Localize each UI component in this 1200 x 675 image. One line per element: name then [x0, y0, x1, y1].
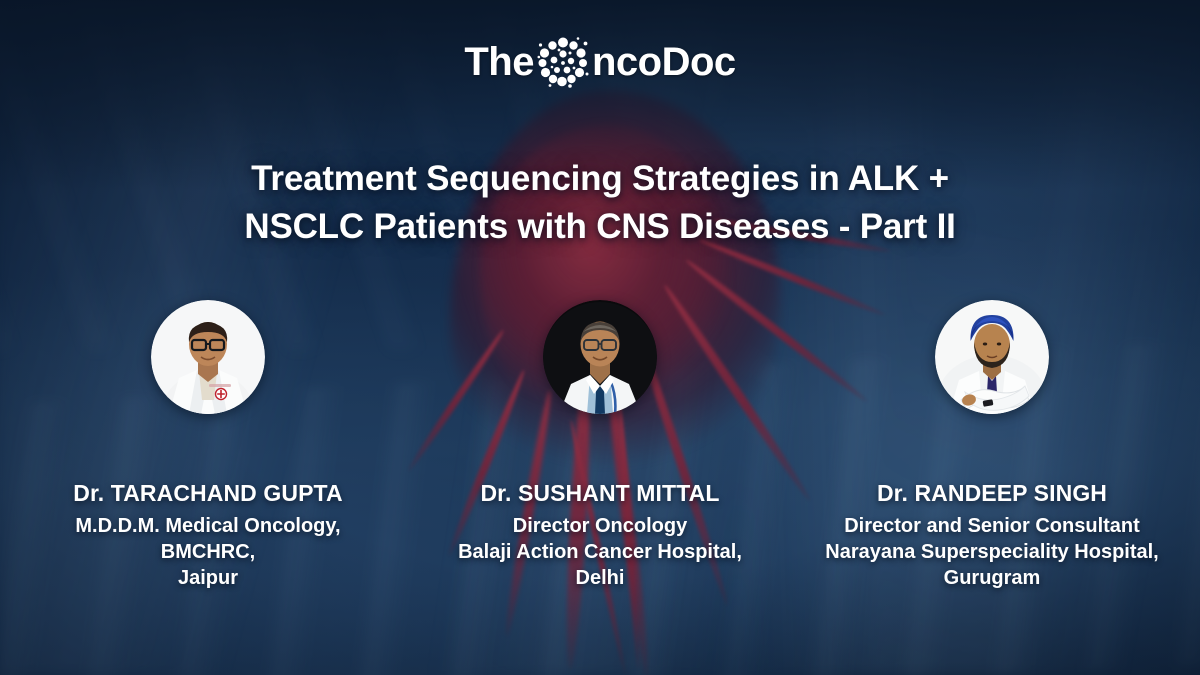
poster-title-line-2: NSCLC Patients with CNS Diseases - Part … — [90, 203, 1110, 251]
poster-title-line-1: Treatment Sequencing Strategies in ALK + — [90, 155, 1110, 203]
speaker-affiliation-line: Director Oncology — [458, 513, 742, 539]
speaker-name: Dr. RANDEEP SINGH — [877, 480, 1107, 508]
cancer-cell-icon — [537, 36, 589, 88]
speaker-affiliation-line: Director and Senior Consultant — [825, 513, 1158, 539]
speaker-affiliation-line: M.D.D.M. Medical Oncology, — [75, 513, 340, 539]
speaker-affiliation-line: Balaji Action Cancer Hospital, — [458, 539, 742, 565]
speaker-card-2: Dr. SUSHANT MITTAL Director Oncology Bal… — [420, 300, 780, 591]
speaker-name: Dr. TARACHAND GUPTA — [73, 480, 342, 508]
webinar-promo-poster: The — [0, 0, 1200, 675]
speaker-card-3: Dr. RANDEEP SINGH Director and Senior Co… — [812, 300, 1172, 591]
speaker-affiliation-line: Narayana Superspeciality Hospital, — [825, 539, 1158, 565]
brand-name-prefix: The — [464, 42, 534, 82]
speaker-list: Dr. TARACHAND GUPTA M.D.D.M. Medical Onc… — [0, 300, 1200, 591]
brand-logo[interactable]: The — [0, 36, 1200, 88]
speaker-affiliation: M.D.D.M. Medical Oncology, BMCHRC, Jaipu… — [75, 513, 340, 592]
speaker-affiliation-line: Jaipur — [75, 565, 340, 591]
doctor-portrait-avatar — [935, 300, 1049, 414]
brand-name-suffix: ncoDoc — [592, 42, 736, 82]
speaker-affiliation-line: Gurugram — [825, 565, 1158, 591]
doctor-portrait-avatar — [543, 300, 657, 414]
speaker-card-1: Dr. TARACHAND GUPTA M.D.D.M. Medical Onc… — [28, 300, 388, 591]
speaker-affiliation-line: BMCHRC, — [75, 539, 340, 565]
speaker-affiliation-line: Delhi — [458, 565, 742, 591]
poster-title: Treatment Sequencing Strategies in ALK +… — [0, 155, 1200, 251]
speaker-name: Dr. SUSHANT MITTAL — [480, 480, 719, 508]
speaker-affiliation: Director Oncology Balaji Action Cancer H… — [458, 513, 742, 592]
doctor-portrait-avatar — [151, 300, 265, 414]
speaker-affiliation: Director and Senior Consultant Narayana … — [825, 513, 1158, 592]
